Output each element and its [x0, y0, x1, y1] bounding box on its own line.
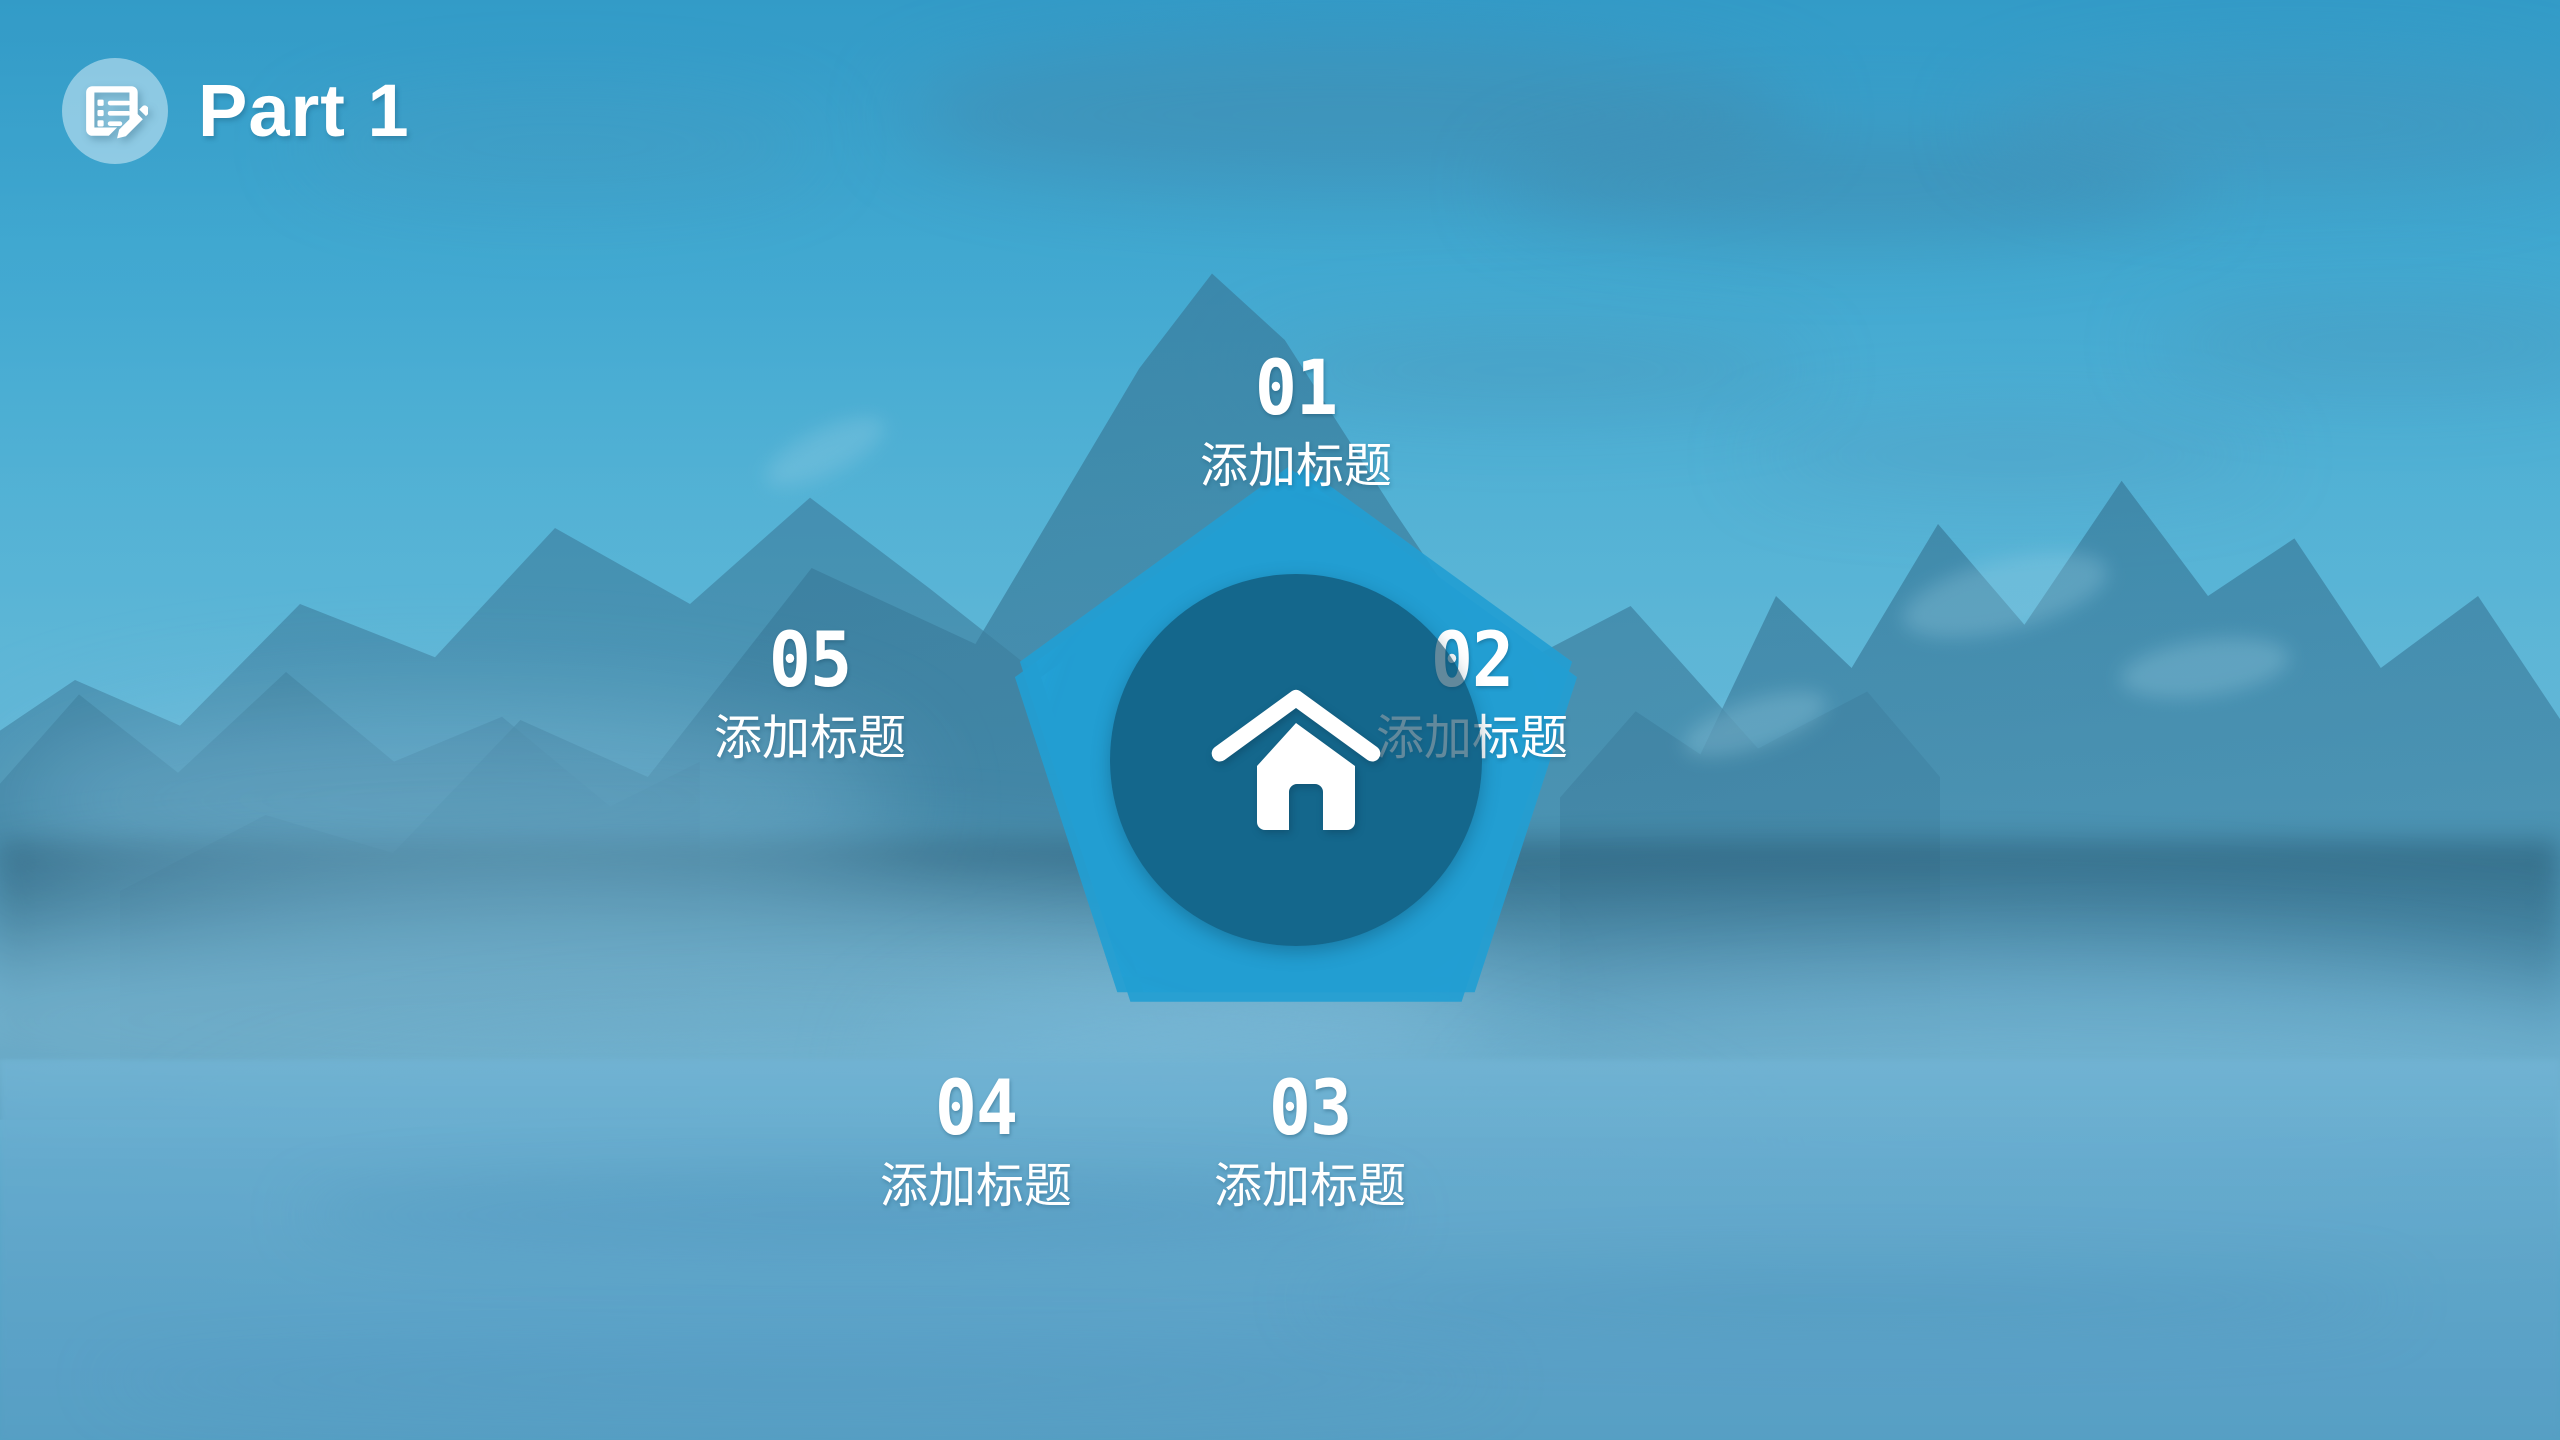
page-title: Part 1	[198, 74, 410, 148]
center-home-badge[interactable]	[1110, 574, 1482, 946]
home-icon	[1207, 681, 1385, 839]
document-edit-icon	[82, 78, 148, 144]
logo-badge	[62, 58, 168, 164]
slide-header: Part 1	[62, 58, 410, 164]
